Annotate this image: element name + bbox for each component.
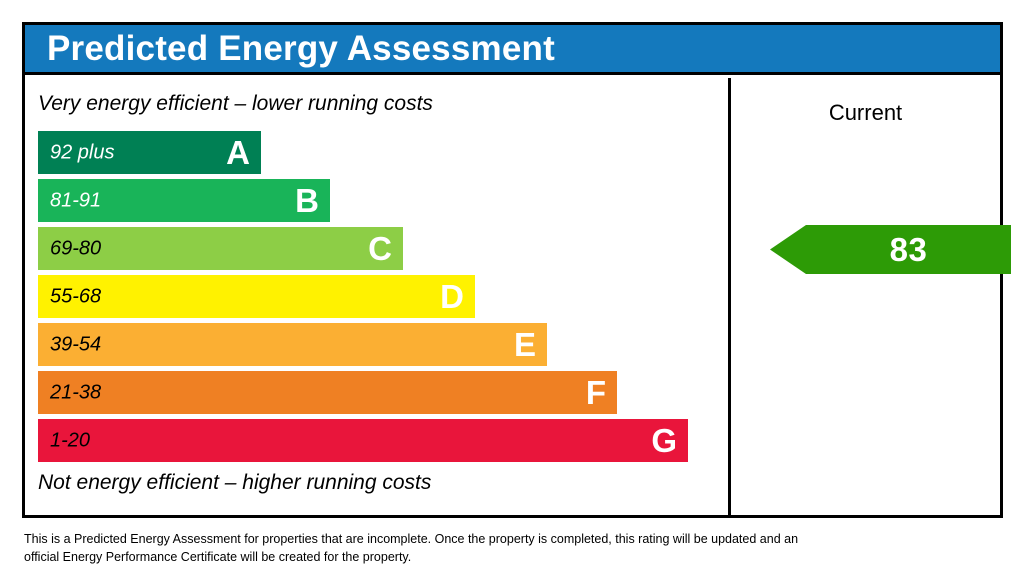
band-range-label: 21-38 [50, 381, 101, 404]
efficiency-caption-bottom: Not energy efficient – higher running co… [38, 471, 431, 495]
energy-band-d: 55-68D [38, 275, 475, 318]
band-letter-a: A [226, 135, 250, 168]
band-letter-c: C [368, 231, 392, 264]
band-range-label: 39-54 [50, 333, 101, 356]
band-range-label: 1-20 [50, 429, 90, 452]
energy-band-b: 81-91B [38, 179, 330, 222]
band-letter-g: G [651, 423, 677, 456]
band-range-label: 55-68 [50, 285, 101, 308]
energy-band-c: 69-80C [38, 227, 403, 270]
band-letter-e: E [514, 327, 536, 360]
band-range-label: 81-91 [50, 189, 101, 212]
energy-rating-chart: Very energy efficient – lower running co… [25, 78, 728, 515]
certificate-title-bar: Predicted Energy Assessment [25, 25, 1000, 75]
current-rating-column: Current 83 [731, 78, 1000, 515]
energy-band-a: 92 plusA [38, 131, 261, 174]
band-range-label: 92 plus [50, 141, 115, 164]
band-letter-f: F [586, 375, 606, 408]
band-range-label: 69-80 [50, 237, 101, 260]
footnote-text: This is a Predicted Energy Assessment fo… [24, 530, 834, 566]
epc-certificate-frame: Predicted Energy Assessment Very energy … [22, 22, 1003, 518]
energy-band-e: 39-54E [38, 323, 547, 366]
current-column-header: Current [731, 100, 1000, 126]
band-letter-b: B [295, 183, 319, 216]
band-letter-d: D [440, 279, 464, 312]
efficiency-caption-top: Very energy efficient – lower running co… [38, 92, 433, 116]
page-title: Predicted Energy Assessment [47, 29, 555, 69]
current-rating-value: 83 [770, 225, 1011, 274]
energy-band-f: 21-38F [38, 371, 617, 414]
energy-band-g: 1-20G [38, 419, 688, 462]
